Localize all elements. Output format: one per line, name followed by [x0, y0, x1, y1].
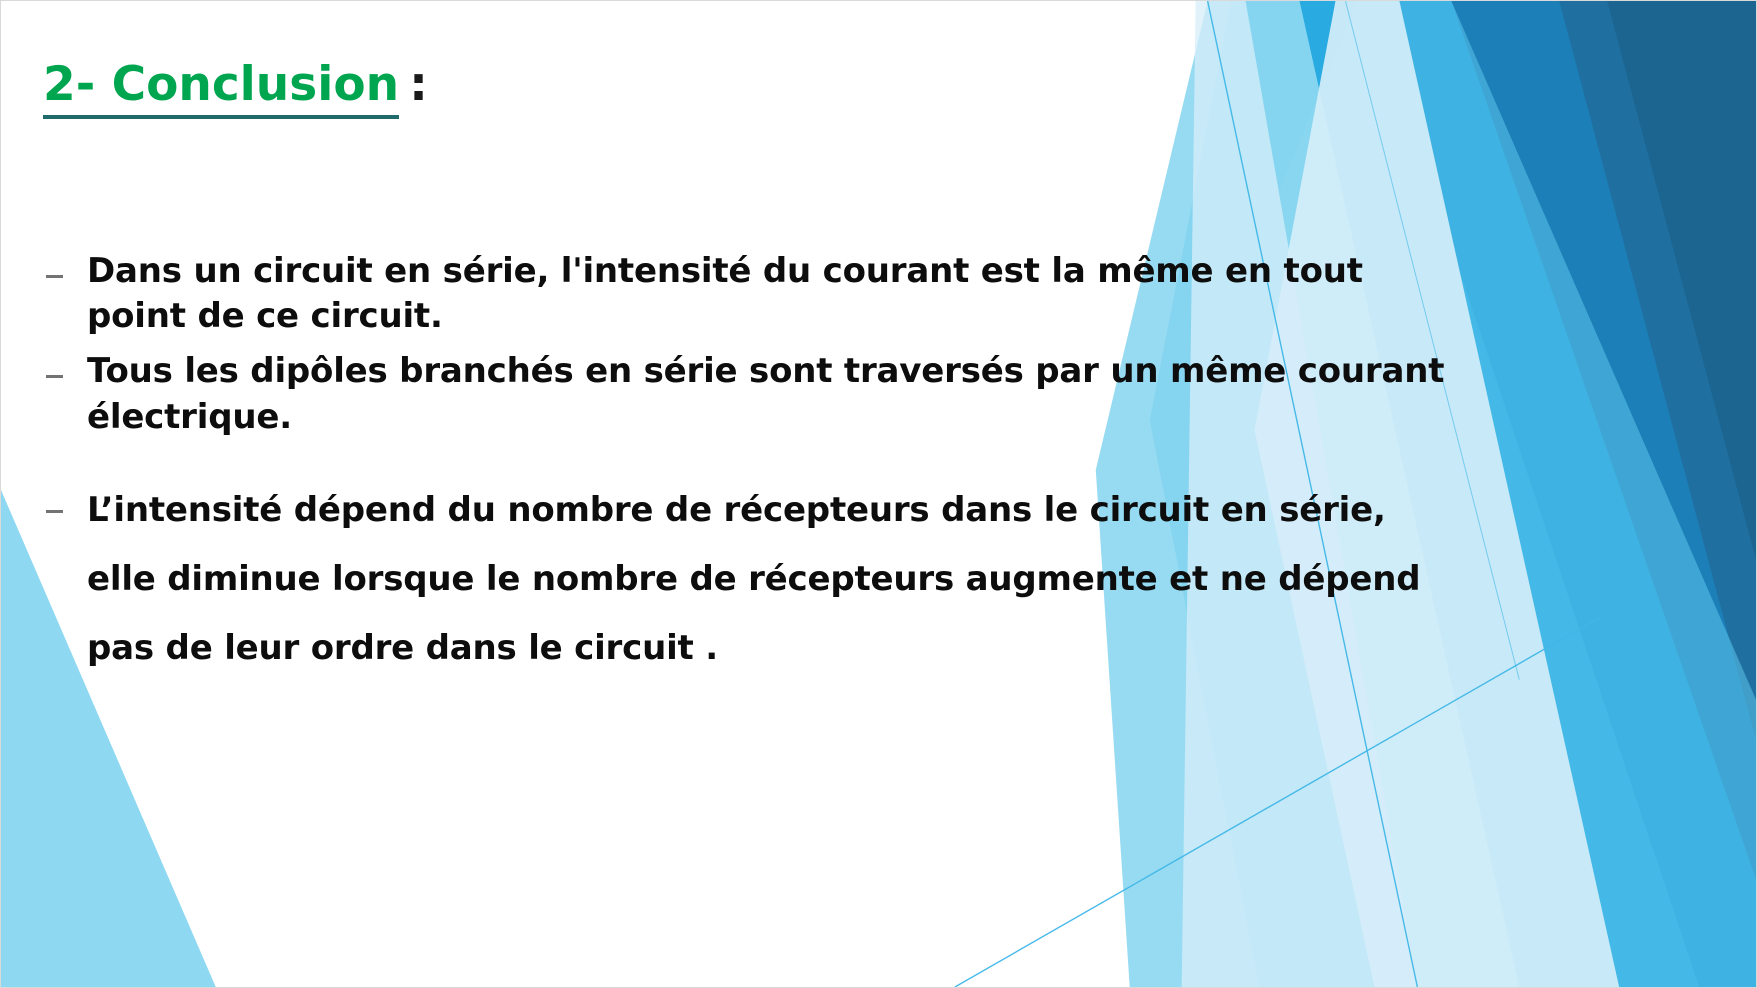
slide-body: Dans un circuit en série, l'intensité du… [41, 249, 1461, 683]
list-item-text: Tous les dipôles branchés en série sont … [87, 349, 1461, 439]
list-spacer [41, 440, 1461, 476]
slide-title: 2- Conclusion: [43, 59, 428, 112]
list-item-text: Dans un circuit en série, l'intensité du… [87, 249, 1461, 339]
dash-bullet-icon [41, 476, 87, 513]
page-title-text: 2- Conclusion [43, 57, 399, 119]
list-item: L’intensité dépend du nombre de récepteu… [41, 476, 1461, 683]
list-spacer [41, 339, 1461, 349]
dash-bullet-icon [41, 349, 87, 378]
list-item: Tous les dipôles branchés en série sont … [41, 349, 1461, 439]
page-title: 2- Conclusion: [43, 59, 428, 112]
page-title-colon: : [399, 57, 428, 112]
dash-bullet-icon [41, 249, 87, 278]
list-item-text: L’intensité dépend du nombre de récepteu… [87, 476, 1461, 683]
deco-shape-right-darkest [1419, 1, 1756, 987]
list-item: Dans un circuit en série, l'intensité du… [41, 249, 1461, 339]
presentation-slide: 2- Conclusion: Dans un circuit en série,… [0, 0, 1757, 988]
